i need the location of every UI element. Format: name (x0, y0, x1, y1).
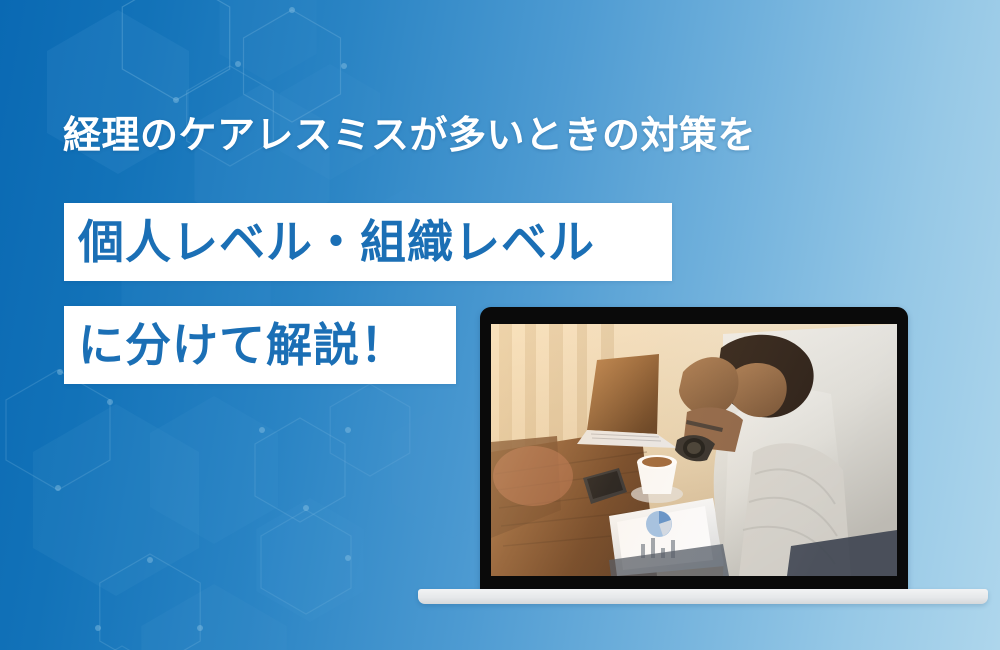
headline-highlight-box-1: 個人レベル・組織レベル (64, 203, 672, 281)
hexagon-outline (261, 510, 351, 614)
hexagon-node-dot (341, 63, 347, 69)
headline-highlight-box-2: に分けて解説！ (64, 306, 456, 384)
hexagon-outline (255, 418, 345, 522)
hexagon-outline (70, 646, 174, 650)
headline-highlight-text-2: に分けて解説！ (78, 322, 407, 368)
hexagon-node-dot (259, 427, 265, 433)
hexagon-filled (150, 396, 278, 544)
laptop-base (418, 589, 988, 604)
headline-highlight-text-1: 個人レベル・組織レベル (78, 219, 595, 265)
headline-line-1: 経理のケアレスミスが多いときの対策を (63, 113, 756, 161)
hexagon-outline (244, 10, 341, 122)
hexagon-node-dot (95, 625, 101, 631)
hexagon-outline (122, 0, 229, 100)
hexagon-node-dot (55, 485, 61, 491)
banner-root: 経理のケアレスミスが多いときの対策を 個人レベル・組織レベル に分けて解説！ (0, 0, 1000, 650)
hexagon-outline (6, 370, 110, 490)
laptop-screen-bezel (480, 307, 908, 591)
hexagon-node-dot (57, 369, 63, 375)
hexagon-node-dot (107, 399, 113, 405)
hexagon-filled (33, 404, 199, 596)
hexagon-node-dot (345, 427, 351, 433)
stressed-worker-photo (491, 324, 897, 576)
hexagon-outline (100, 554, 200, 650)
hexagon-outline (330, 384, 410, 476)
hexagon-node-dot (173, 97, 179, 103)
hexagon-filled (141, 584, 286, 650)
laptop-mockup (418, 303, 1000, 609)
hexagon-node-dot (345, 555, 351, 561)
hexagon-node-dot (289, 7, 295, 13)
hexagon-filled (220, 0, 317, 82)
hexagon-node-dot (235, 61, 241, 67)
hexagon-filled (256, 498, 363, 622)
hexagon-node-dot (147, 557, 153, 563)
hexagon-node-dot (197, 625, 203, 631)
laptop-screen (491, 324, 897, 576)
hexagon-node-dot (303, 505, 309, 511)
